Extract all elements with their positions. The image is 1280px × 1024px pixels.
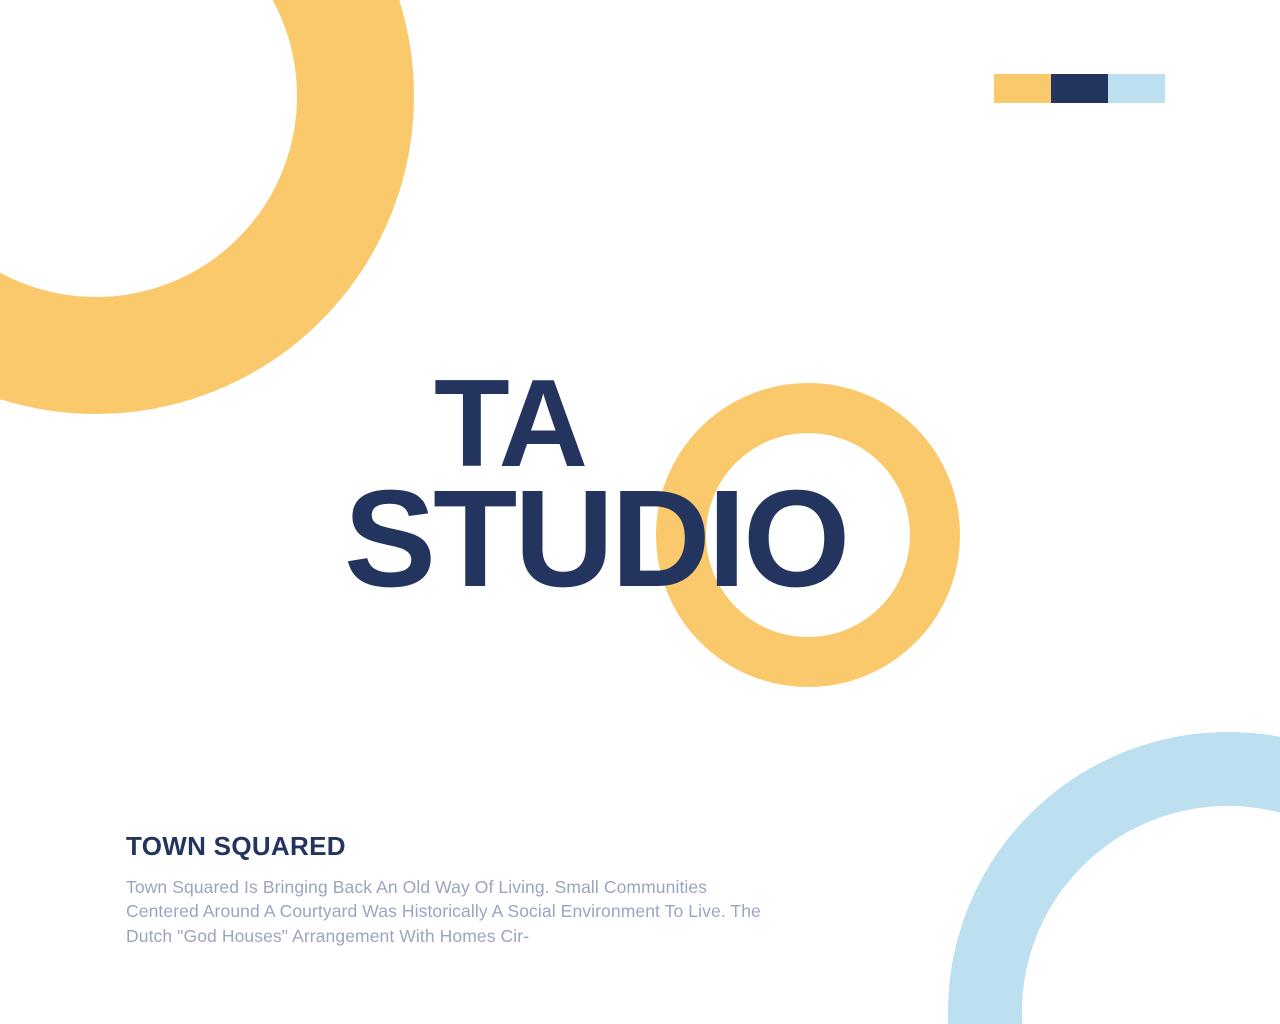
orange-swatch xyxy=(994,74,1051,103)
logo-lockup: TA STUDIO xyxy=(0,340,1280,740)
navy-swatch xyxy=(1051,74,1108,103)
caption-title: TOWN SQUARED xyxy=(126,832,766,861)
color-palette-swatch-bar xyxy=(994,74,1165,103)
brand-presentation-slide: TA STUDIO TOWN SQUARED Town Squared Is B… xyxy=(0,0,1280,1024)
light-blue-ring xyxy=(948,732,1280,1024)
caption-block: TOWN SQUARED Town Squared Is Bringing Ba… xyxy=(126,832,766,949)
light-blue-swatch xyxy=(1108,74,1165,103)
logo-line-studio: STUDIO xyxy=(344,470,847,608)
caption-body-text: Town Squared Is Bringing Back An Old Way… xyxy=(126,875,766,950)
logo-wordmark: TA STUDIO xyxy=(0,340,1280,740)
